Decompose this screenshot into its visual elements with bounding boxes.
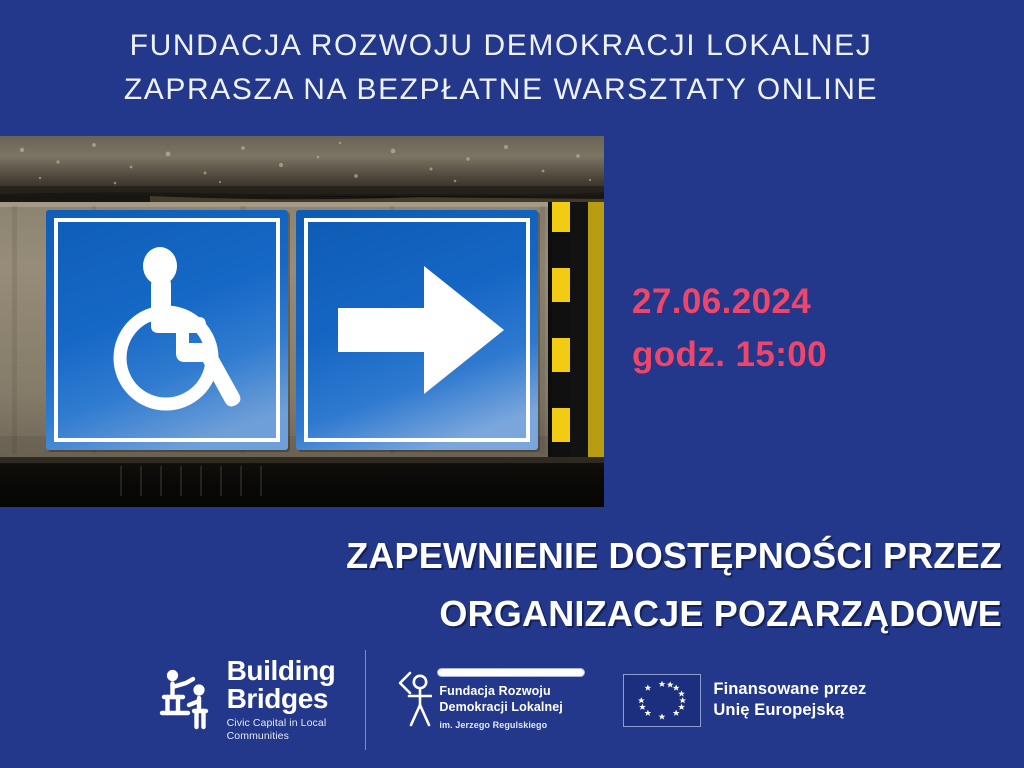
event-time: godz. 15:00 — [632, 328, 932, 381]
header-text-block: FUNDACJA ROZWOJU DEMOKRACJI LOKALNEJ ZAP… — [0, 24, 1024, 112]
two-people-building-icon — [158, 667, 218, 733]
main-title-line-1: ZAPEWNIENIE DOSTĘPNOŚCI PRZEZ — [0, 527, 1002, 585]
frdl-figure-icon-svg — [396, 669, 432, 731]
footer-logo-bar: Building Bridges Civic Capital in Local … — [0, 638, 1024, 762]
main-title-line-2: ORGANIZACJE POZARZĄDOWE — [0, 585, 1002, 643]
wheelchair-sign — [46, 210, 290, 452]
hazard-striped-post — [548, 202, 604, 457]
header-line-2: ZAPRASZA NA BEZPŁATNE WARSZTATY ONLINE — [0, 68, 1002, 112]
building-bridges-wordmark: Building Bridges Civic Capital in Local … — [227, 657, 336, 743]
eu-flag-icon-svg — [624, 675, 700, 726]
two-people-building-icon-svg — [158, 667, 218, 733]
accessibility-signs-photo — [0, 136, 604, 507]
frdl-subtitle: im. Jerzego Regulskiego — [439, 720, 585, 732]
building-bridges-word-2: Bridges — [227, 685, 336, 713]
frdl-logo: Fundacja Rozwoju Demokracji Lokalnej im.… — [396, 668, 585, 732]
building-bridges-tagline-1: Civic Capital in Local — [227, 717, 336, 730]
footer-divider — [365, 650, 366, 750]
frdl-wordmark: Fundacja Rozwoju Demokracji Lokalnej im.… — [439, 668, 585, 732]
frdl-line-1: Fundacja Rozwoju — [439, 683, 585, 699]
main-title-block: ZAPEWNIENIE DOSTĘPNOŚCI PRZEZ ORGANIZACJ… — [0, 527, 1024, 642]
building-bridges-word-1: Building — [227, 657, 336, 685]
eu-line-1: Finansowane przez — [713, 679, 866, 700]
frdl-figure-icon — [396, 669, 432, 731]
eu-flag-icon — [623, 674, 701, 727]
european-union-logo: Finansowane przez Unię Europejską — [623, 674, 866, 727]
eu-wordmark: Finansowane przez Unię Europejską — [713, 679, 866, 722]
building-bridges-tagline-2: Communities — [227, 730, 336, 743]
building-bridges-logo: Building Bridges Civic Capital in Local … — [158, 657, 336, 743]
event-date-block: 27.06.2024 godz. 15:00 — [632, 275, 932, 381]
frdl-line-2: Demokracji Lokalnej — [439, 699, 585, 715]
poster-canvas: FUNDACJA ROZWOJU DEMOKRACJI LOKALNEJ ZAP… — [0, 0, 1024, 768]
event-date: 27.06.2024 — [632, 275, 932, 328]
eu-line-2: Unię Europejską — [713, 700, 866, 721]
photo-illustration — [0, 136, 604, 507]
frdl-bar-mark — [437, 668, 585, 677]
arrow-sign — [296, 210, 540, 452]
header-line-1: FUNDACJA ROZWOJU DEMOKRACJI LOKALNEJ — [0, 24, 1002, 68]
